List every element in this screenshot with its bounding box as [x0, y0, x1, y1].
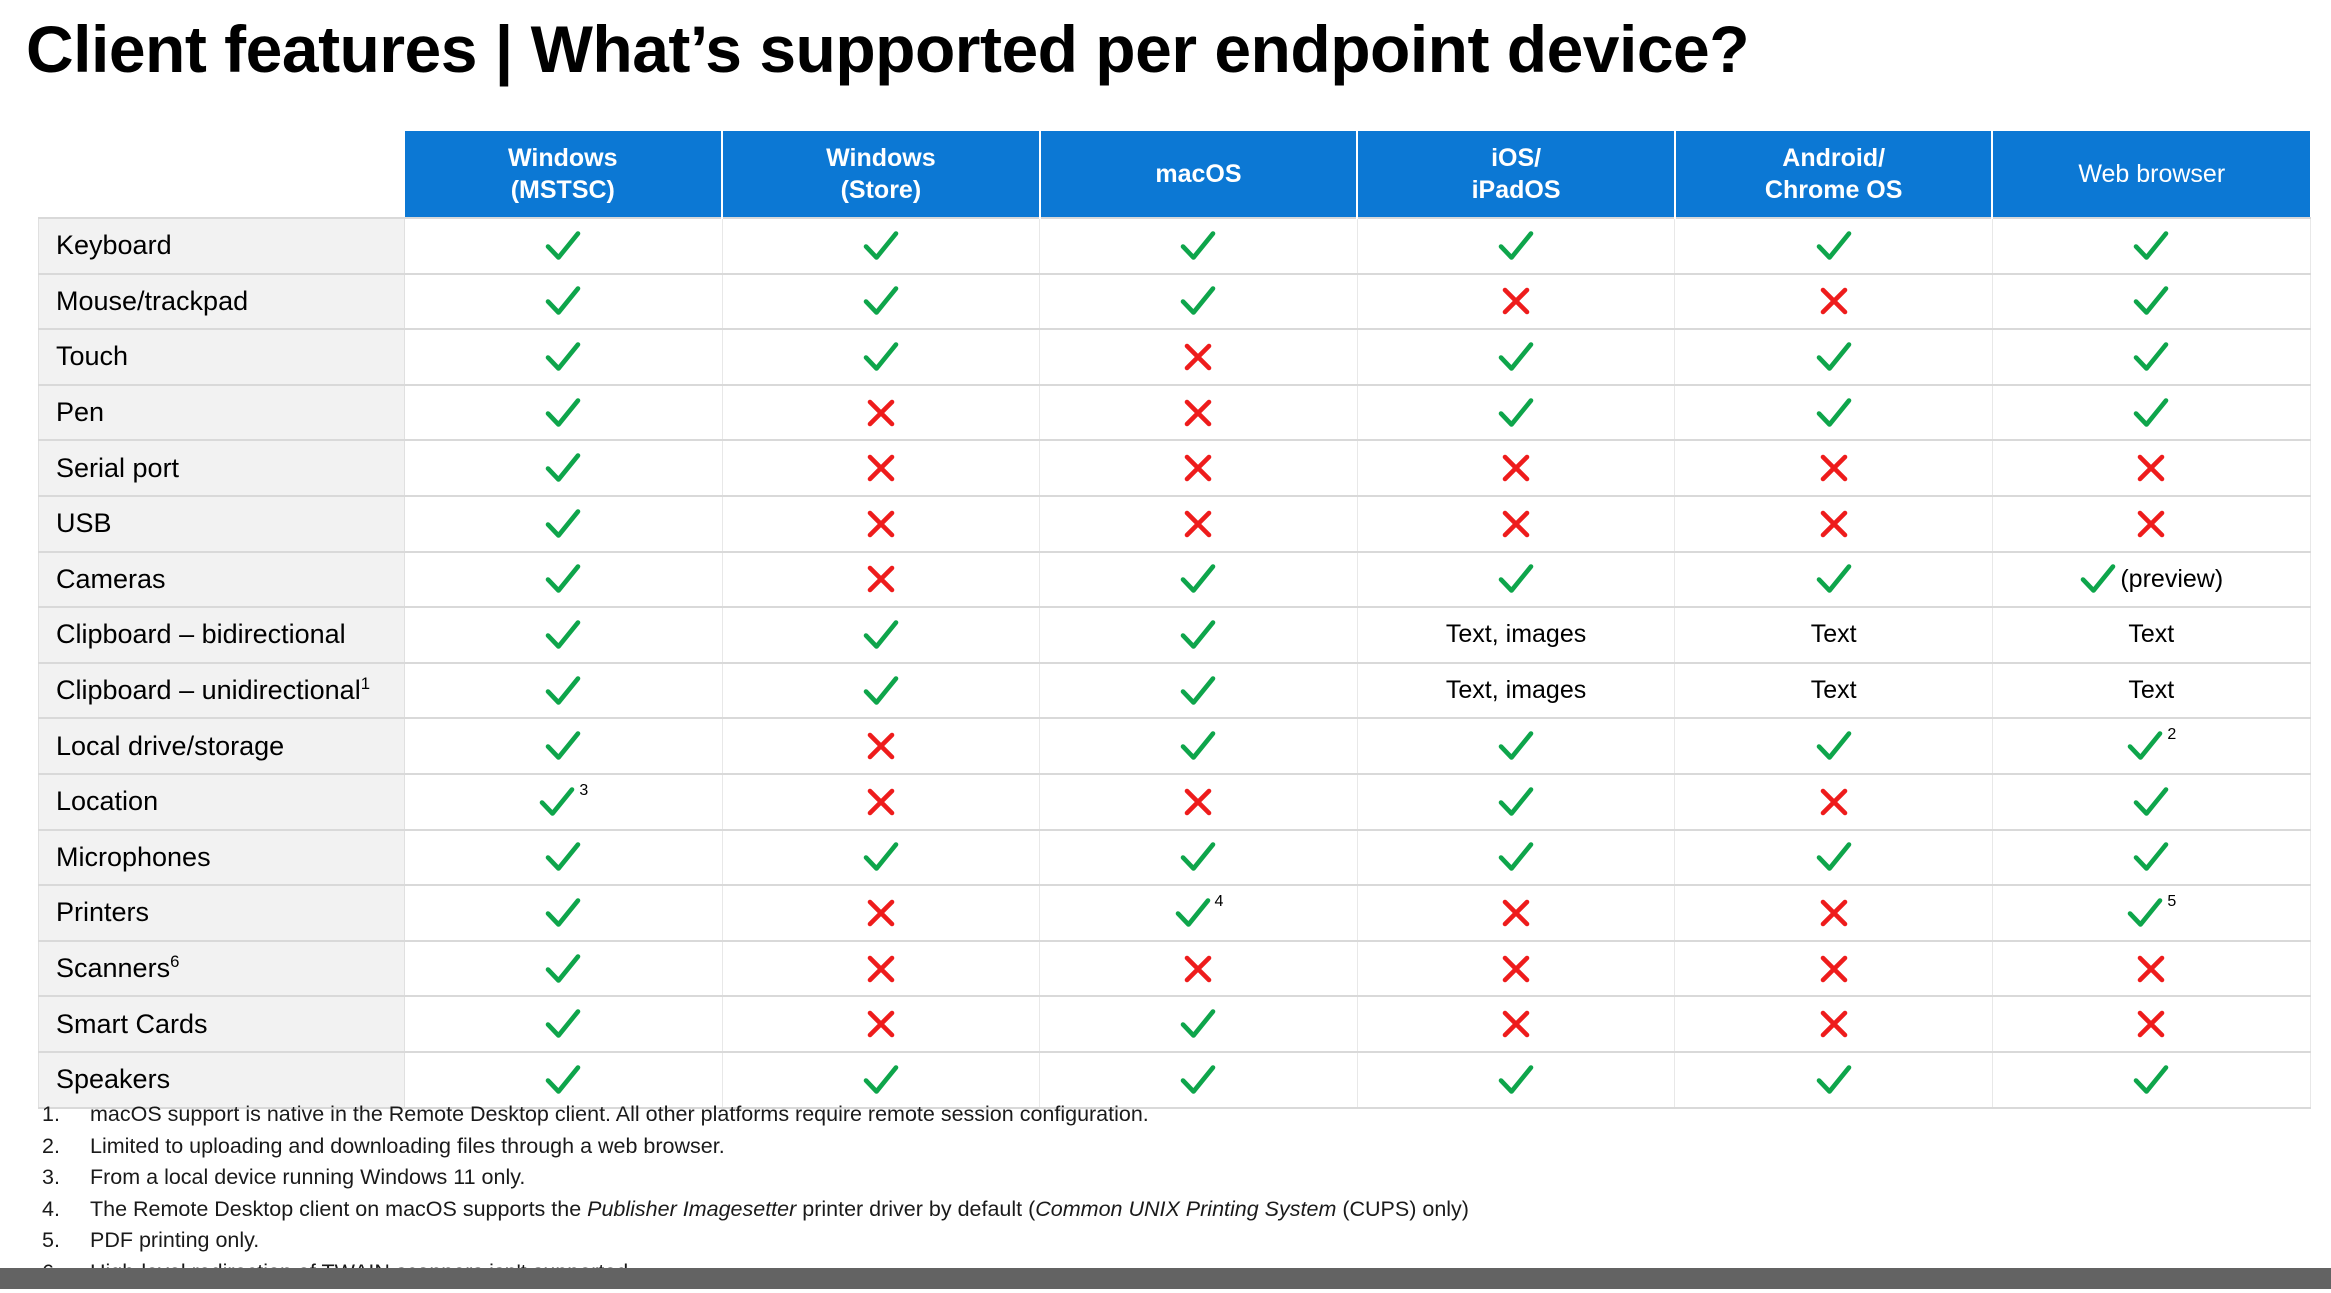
cell-r1-c4: [1357, 218, 1675, 274]
column-header-android-chromeos: Android/ Chrome OS: [1675, 131, 1993, 218]
row-label-text: Cameras: [56, 564, 166, 594]
cross-icon: [864, 1007, 898, 1041]
check-icon: [2132, 785, 2170, 819]
cell-content: [1675, 719, 1992, 773]
cell-r7-c1: [405, 552, 723, 608]
row-label-text: Clipboard – unidirectional: [56, 675, 361, 705]
cross-icon: [1181, 451, 1215, 485]
check-icon: [862, 340, 900, 374]
cell-r16-c3: [1040, 1052, 1358, 1108]
table-row: Microphones: [39, 830, 2311, 886]
cell-r10-c3: [1040, 718, 1358, 774]
cell-r12-c2: [722, 830, 1040, 886]
cell-r12-c3: [1040, 830, 1358, 886]
cell-r13-c6: 5: [1992, 885, 2310, 941]
row-label-text: Clipboard – bidirectional: [56, 619, 346, 649]
cell-content: [1040, 441, 1357, 495]
cell-r1-c3: [1040, 218, 1358, 274]
check-icon: [544, 284, 582, 318]
cell-content: [405, 553, 722, 607]
cell-r9-c1: [405, 663, 723, 719]
cross-icon: [2134, 1007, 2168, 1041]
cell-r8-c4: Text, images: [1357, 607, 1675, 663]
cell-content: (preview): [1993, 553, 2310, 607]
footnote-number: 2.: [42, 1136, 90, 1158]
cell-r16-c5: [1675, 1052, 1993, 1108]
cell-content: [1040, 330, 1357, 384]
cell-r7-c2: [722, 552, 1040, 608]
cell-r1-c2: [722, 218, 1040, 274]
cell-content: 2: [1993, 719, 2310, 773]
cell-content: [1040, 831, 1357, 885]
cell-r4-c6: [1992, 385, 2310, 441]
cell-content: [1358, 1053, 1675, 1107]
check-icon: [1179, 562, 1217, 596]
check-icon: [2132, 840, 2170, 874]
row-label-location: Location: [39, 774, 405, 830]
row-label-text: Mouse/trackpad: [56, 286, 248, 316]
cross-icon: [1817, 507, 1851, 541]
cell-content: [1040, 775, 1357, 829]
cell-content: [1358, 886, 1675, 940]
check-icon: [1179, 1063, 1217, 1097]
cell-r8-c5: Text: [1675, 607, 1993, 663]
cell-content: [1040, 497, 1357, 551]
check-icon: [1815, 340, 1853, 374]
cell-footnote-ref: 5: [2167, 893, 2176, 911]
cell-r10-c1: [405, 718, 723, 774]
check-icon: [544, 396, 582, 430]
cell-content: [723, 219, 1040, 273]
check-icon: [544, 340, 582, 374]
cell-r12-c1: [405, 830, 723, 886]
cell-r6-c1: [405, 496, 723, 552]
cross-icon: [1181, 952, 1215, 986]
cell-r15-c1: [405, 996, 723, 1052]
row-label-text: Smart Cards: [56, 1009, 208, 1039]
cross-icon: [864, 785, 898, 819]
cell-r2-c3: [1040, 274, 1358, 330]
cell-r4-c2: [722, 385, 1040, 441]
cell-content: [1358, 441, 1675, 495]
cell-content: [1358, 330, 1675, 384]
check-icon: [544, 618, 582, 652]
cell-r14-c3: [1040, 941, 1358, 997]
check-icon: [544, 451, 582, 485]
footnote-item: 4.The Remote Desktop client on macOS sup…: [42, 1199, 2242, 1231]
table-body: KeyboardMouse/trackpadTouchPenSerial por…: [39, 218, 2311, 1108]
cell-content: [1358, 386, 1675, 440]
column-header-line1: Windows: [405, 142, 722, 174]
cell-content: Text: [1993, 608, 2310, 662]
row-label-cameras: Cameras: [39, 552, 405, 608]
cell-r2-c4: [1357, 274, 1675, 330]
cell-content: [1675, 386, 1992, 440]
cell-content: [1993, 1053, 2310, 1107]
cell-r7-c4: [1357, 552, 1675, 608]
cell-content: [723, 664, 1040, 718]
row-label-mouse-trackpad: Mouse/trackpad: [39, 274, 405, 330]
cell-content: [1358, 497, 1675, 551]
cell-content: 4: [1040, 886, 1357, 940]
footnote-text: Limited to uploading and downloading fil…: [90, 1136, 2242, 1158]
cell-r6-c4: [1357, 496, 1675, 552]
cell-r10-c6: 2: [1992, 718, 2310, 774]
cell-r11-c5: [1675, 774, 1993, 830]
cross-icon: [1499, 1007, 1533, 1041]
footnote-number: 3.: [42, 1167, 90, 1189]
cross-icon: [864, 952, 898, 986]
table-row: USB: [39, 496, 2311, 552]
cell-content: [1040, 664, 1357, 718]
cell-content: Text: [1675, 664, 1992, 718]
cross-icon: [1817, 952, 1851, 986]
cell-r6-c2: [722, 496, 1040, 552]
cell-content: [723, 441, 1040, 495]
check-icon: [1815, 396, 1853, 430]
cell-r2-c2: [722, 274, 1040, 330]
row-label-clipboard-unidirectional: Clipboard – unidirectional1: [39, 663, 405, 719]
check-icon: [1815, 1063, 1853, 1097]
cell-r11-c6: [1992, 774, 2310, 830]
column-header-line2: iPadOS: [1358, 174, 1674, 206]
client-features-table: Windows (MSTSC) Windows (Store) macOS iO…: [38, 131, 2311, 1109]
cell-content: [1993, 219, 2310, 273]
table-row: Location3: [39, 774, 2311, 830]
cell-r11-c1: 3: [405, 774, 723, 830]
cell-r3-c2: [722, 329, 1040, 385]
check-icon: [2132, 396, 2170, 430]
cell-content: Text: [1993, 664, 2310, 718]
cell-r7-c3: [1040, 552, 1358, 608]
cell-content: [1040, 386, 1357, 440]
cell-note-text: (preview): [2120, 565, 2223, 594]
cell-content: [405, 386, 722, 440]
cross-icon: [864, 896, 898, 930]
check-icon: [1815, 729, 1853, 763]
table-header: Windows (MSTSC) Windows (Store) macOS iO…: [39, 131, 2311, 218]
row-label-text: Printers: [56, 897, 149, 927]
cross-icon: [1817, 451, 1851, 485]
column-header-ios-ipados: iOS/ iPadOS: [1357, 131, 1675, 218]
check-icon: [544, 507, 582, 541]
cell-r9-c2: [722, 663, 1040, 719]
check-icon: [544, 896, 582, 930]
cell-value-text: Text, images: [1446, 676, 1586, 705]
cross-icon: [1817, 896, 1851, 930]
check-icon: [544, 1007, 582, 1041]
table-row: Speakers: [39, 1052, 2311, 1108]
cell-content: [1358, 275, 1675, 329]
cell-content: 3: [405, 775, 722, 829]
footnote-text: macOS support is native in the Remote De…: [90, 1104, 2242, 1126]
check-icon: [2132, 229, 2170, 263]
cell-content: [723, 831, 1040, 885]
cell-content: [1993, 775, 2310, 829]
cell-r13-c1: [405, 885, 723, 941]
table-row: Cameras(preview): [39, 552, 2311, 608]
footnote-text: PDF printing only.: [90, 1230, 2242, 1252]
cross-icon: [864, 729, 898, 763]
check-icon: [1815, 562, 1853, 596]
cell-content: [405, 664, 722, 718]
footnote-item: 3.From a local device running Windows 11…: [42, 1167, 2242, 1199]
cell-value-text: Text: [2128, 620, 2174, 649]
check-icon: [538, 785, 576, 819]
cell-content: [405, 275, 722, 329]
cell-content: [1675, 219, 1992, 273]
cell-r15-c3: [1040, 996, 1358, 1052]
row-label-text: Serial port: [56, 453, 179, 483]
cell-value-text: Text: [1811, 620, 1857, 649]
row-label-text: Microphones: [56, 842, 211, 872]
cell-r13-c4: [1357, 885, 1675, 941]
column-header-macos: macOS: [1040, 131, 1358, 218]
check-icon: [1815, 840, 1853, 874]
table-row: Smart Cards: [39, 996, 2311, 1052]
column-header-line1: Windows: [723, 142, 1039, 174]
footnote-number: 5.: [42, 1230, 90, 1252]
row-label-text: Pen: [56, 397, 104, 427]
row-label-touch: Touch: [39, 329, 405, 385]
cell-content: [1993, 275, 2310, 329]
cell-r10-c4: [1357, 718, 1675, 774]
row-label-text: Keyboard: [56, 230, 172, 260]
column-header-windows-store: Windows (Store): [722, 131, 1040, 218]
cell-content: [405, 330, 722, 384]
cell-r4-c1: [405, 385, 723, 441]
cell-content: [723, 497, 1040, 551]
cell-content: [1358, 942, 1675, 996]
row-label-footnote-ref: 1: [361, 674, 370, 693]
cell-content: [405, 497, 722, 551]
column-header-line2: (Store): [723, 174, 1039, 206]
check-icon: [2132, 284, 2170, 318]
cell-r8-c6: Text: [1992, 607, 2310, 663]
cross-icon: [1499, 284, 1533, 318]
check-icon: [1174, 896, 1212, 930]
check-icon: [2126, 896, 2164, 930]
cell-content: [1993, 330, 2310, 384]
cell-content: [1040, 275, 1357, 329]
footnotes-list: 1.macOS support is native in the Remote …: [42, 1104, 2242, 1293]
check-icon: [1497, 1063, 1535, 1097]
cell-r10-c2: [722, 718, 1040, 774]
check-icon: [862, 229, 900, 263]
check-icon: [862, 1063, 900, 1097]
cell-content: 5: [1993, 886, 2310, 940]
check-icon: [862, 618, 900, 652]
cell-content: Text, images: [1358, 608, 1675, 662]
cell-content: [723, 1053, 1040, 1107]
cell-content: [723, 886, 1040, 940]
cross-icon: [864, 562, 898, 596]
cell-r5-c1: [405, 440, 723, 496]
check-icon: [1497, 396, 1535, 430]
cell-content: [723, 608, 1040, 662]
column-header-line1: macOS: [1041, 158, 1357, 190]
check-icon: [2126, 729, 2164, 763]
cell-content: [1040, 942, 1357, 996]
cross-icon: [1499, 952, 1533, 986]
cell-r16-c1: [405, 1052, 723, 1108]
check-icon: [544, 229, 582, 263]
cell-r14-c6: [1992, 941, 2310, 997]
cell-content: [1993, 497, 2310, 551]
cell-r3-c3: [1040, 329, 1358, 385]
row-label-clipboard-bidirectional: Clipboard – bidirectional: [39, 607, 405, 663]
cell-content: [405, 831, 722, 885]
table-row: Printers45: [39, 885, 2311, 941]
cell-content: [1040, 1053, 1357, 1107]
page-title: Client features | What’s supported per e…: [26, 14, 1749, 85]
cross-icon: [2134, 451, 2168, 485]
cell-footnote-ref: 3: [579, 782, 588, 800]
cell-r5-c4: [1357, 440, 1675, 496]
cell-r12-c4: [1357, 830, 1675, 886]
cell-r16-c4: [1357, 1052, 1675, 1108]
table-row: Mouse/trackpad: [39, 274, 2311, 330]
cross-icon: [1181, 785, 1215, 819]
cross-icon: [1817, 284, 1851, 318]
cell-content: Text: [1675, 608, 1992, 662]
cell-content: [1993, 942, 2310, 996]
check-icon: [544, 1063, 582, 1097]
row-label-local-drive-storage: Local drive/storage: [39, 718, 405, 774]
cell-content: [1993, 831, 2310, 885]
check-icon: [1815, 229, 1853, 263]
cell-r5-c5: [1675, 440, 1993, 496]
row-label-text: Touch: [56, 341, 128, 371]
cell-r3-c1: [405, 329, 723, 385]
cell-r5-c6: [1992, 440, 2310, 496]
cell-r6-c3: [1040, 496, 1358, 552]
cell-content: [1675, 553, 1992, 607]
cell-r9-c6: Text: [1992, 663, 2310, 719]
cell-r5-c3: [1040, 440, 1358, 496]
row-label-serial-port: Serial port: [39, 440, 405, 496]
cross-icon: [864, 451, 898, 485]
cell-content: [1358, 997, 1675, 1051]
cell-r15-c6: [1992, 996, 2310, 1052]
table-corner-cell: [39, 131, 405, 218]
row-label-footnote-ref: 6: [170, 952, 179, 971]
cell-footnote-ref: 4: [1215, 893, 1224, 911]
cell-content: [723, 275, 1040, 329]
row-label-text: USB: [56, 508, 112, 538]
cell-r10-c5: [1675, 718, 1993, 774]
row-label-usb: USB: [39, 496, 405, 552]
check-icon: [544, 952, 582, 986]
table-row: Touch: [39, 329, 2311, 385]
check-icon: [862, 284, 900, 318]
check-icon: [1497, 340, 1535, 374]
check-icon: [1497, 785, 1535, 819]
footnote-text: From a local device running Windows 11 o…: [90, 1167, 2242, 1189]
bottom-bar: [0, 1268, 2331, 1289]
cross-icon: [864, 396, 898, 430]
cell-r11-c2: [722, 774, 1040, 830]
cell-r5-c2: [722, 440, 1040, 496]
cell-content: [723, 942, 1040, 996]
cell-content: [1675, 997, 1992, 1051]
cell-r7-c5: [1675, 552, 1993, 608]
footnote-text: The Remote Desktop client on macOS suppo…: [90, 1199, 2242, 1221]
cell-content: [723, 719, 1040, 773]
cell-r1-c1: [405, 218, 723, 274]
cross-icon: [1817, 1007, 1851, 1041]
row-label-pen: Pen: [39, 385, 405, 441]
cell-content: [1675, 330, 1992, 384]
cell-content: [405, 219, 722, 273]
cell-content: [1675, 775, 1992, 829]
cell-content: [1993, 997, 2310, 1051]
cell-content: [1040, 553, 1357, 607]
check-icon: [862, 674, 900, 708]
check-icon: [1497, 840, 1535, 874]
cell-content: [1040, 219, 1357, 273]
cell-r8-c2: [722, 607, 1040, 663]
check-icon: [2132, 1063, 2170, 1097]
cell-content: [1675, 831, 1992, 885]
cell-r15-c4: [1357, 996, 1675, 1052]
cell-r13-c5: [1675, 885, 1993, 941]
cell-r16-c2: [722, 1052, 1040, 1108]
row-label-text: Location: [56, 786, 158, 816]
cell-value-text: Text: [2128, 676, 2174, 705]
cell-content: [1675, 886, 1992, 940]
cell-r13-c3: 4: [1040, 885, 1358, 941]
column-header-line1: iOS/: [1358, 142, 1674, 174]
check-icon: [1497, 562, 1535, 596]
cell-r7-c6: (preview): [1992, 552, 2310, 608]
cell-value-text: Text: [1811, 676, 1857, 705]
cross-icon: [864, 507, 898, 541]
cell-r8-c3: [1040, 607, 1358, 663]
cell-content: [405, 441, 722, 495]
cross-icon: [1499, 896, 1533, 930]
row-label-text: Local drive/storage: [56, 731, 284, 761]
cell-content: [1675, 942, 1992, 996]
table-row: Scanners6: [39, 941, 2311, 997]
row-label-microphones: Microphones: [39, 830, 405, 886]
table-row: Pen: [39, 385, 2311, 441]
table-row: Local drive/storage2: [39, 718, 2311, 774]
cell-content: [405, 719, 722, 773]
cross-icon: [2134, 952, 2168, 986]
row-label-text: Scanners: [56, 953, 170, 983]
cell-content: [723, 386, 1040, 440]
check-icon: [1179, 729, 1217, 763]
cell-content: [723, 330, 1040, 384]
cell-content: [1675, 497, 1992, 551]
cell-content: [1358, 553, 1675, 607]
cell-r2-c1: [405, 274, 723, 330]
cell-r12-c6: [1992, 830, 2310, 886]
column-header-line1: Web browser: [1993, 158, 2310, 190]
cell-r13-c2: [722, 885, 1040, 941]
check-icon: [544, 674, 582, 708]
table-row: Clipboard – unidirectional1Text, imagesT…: [39, 663, 2311, 719]
check-icon: [1179, 840, 1217, 874]
cross-icon: [1181, 340, 1215, 374]
cell-r6-c6: [1992, 496, 2310, 552]
column-header-line2: (MSTSC): [405, 174, 722, 206]
cell-content: [405, 997, 722, 1051]
cell-content: [1040, 719, 1357, 773]
check-icon: [544, 729, 582, 763]
column-header-web-browser: Web browser: [1992, 131, 2310, 218]
